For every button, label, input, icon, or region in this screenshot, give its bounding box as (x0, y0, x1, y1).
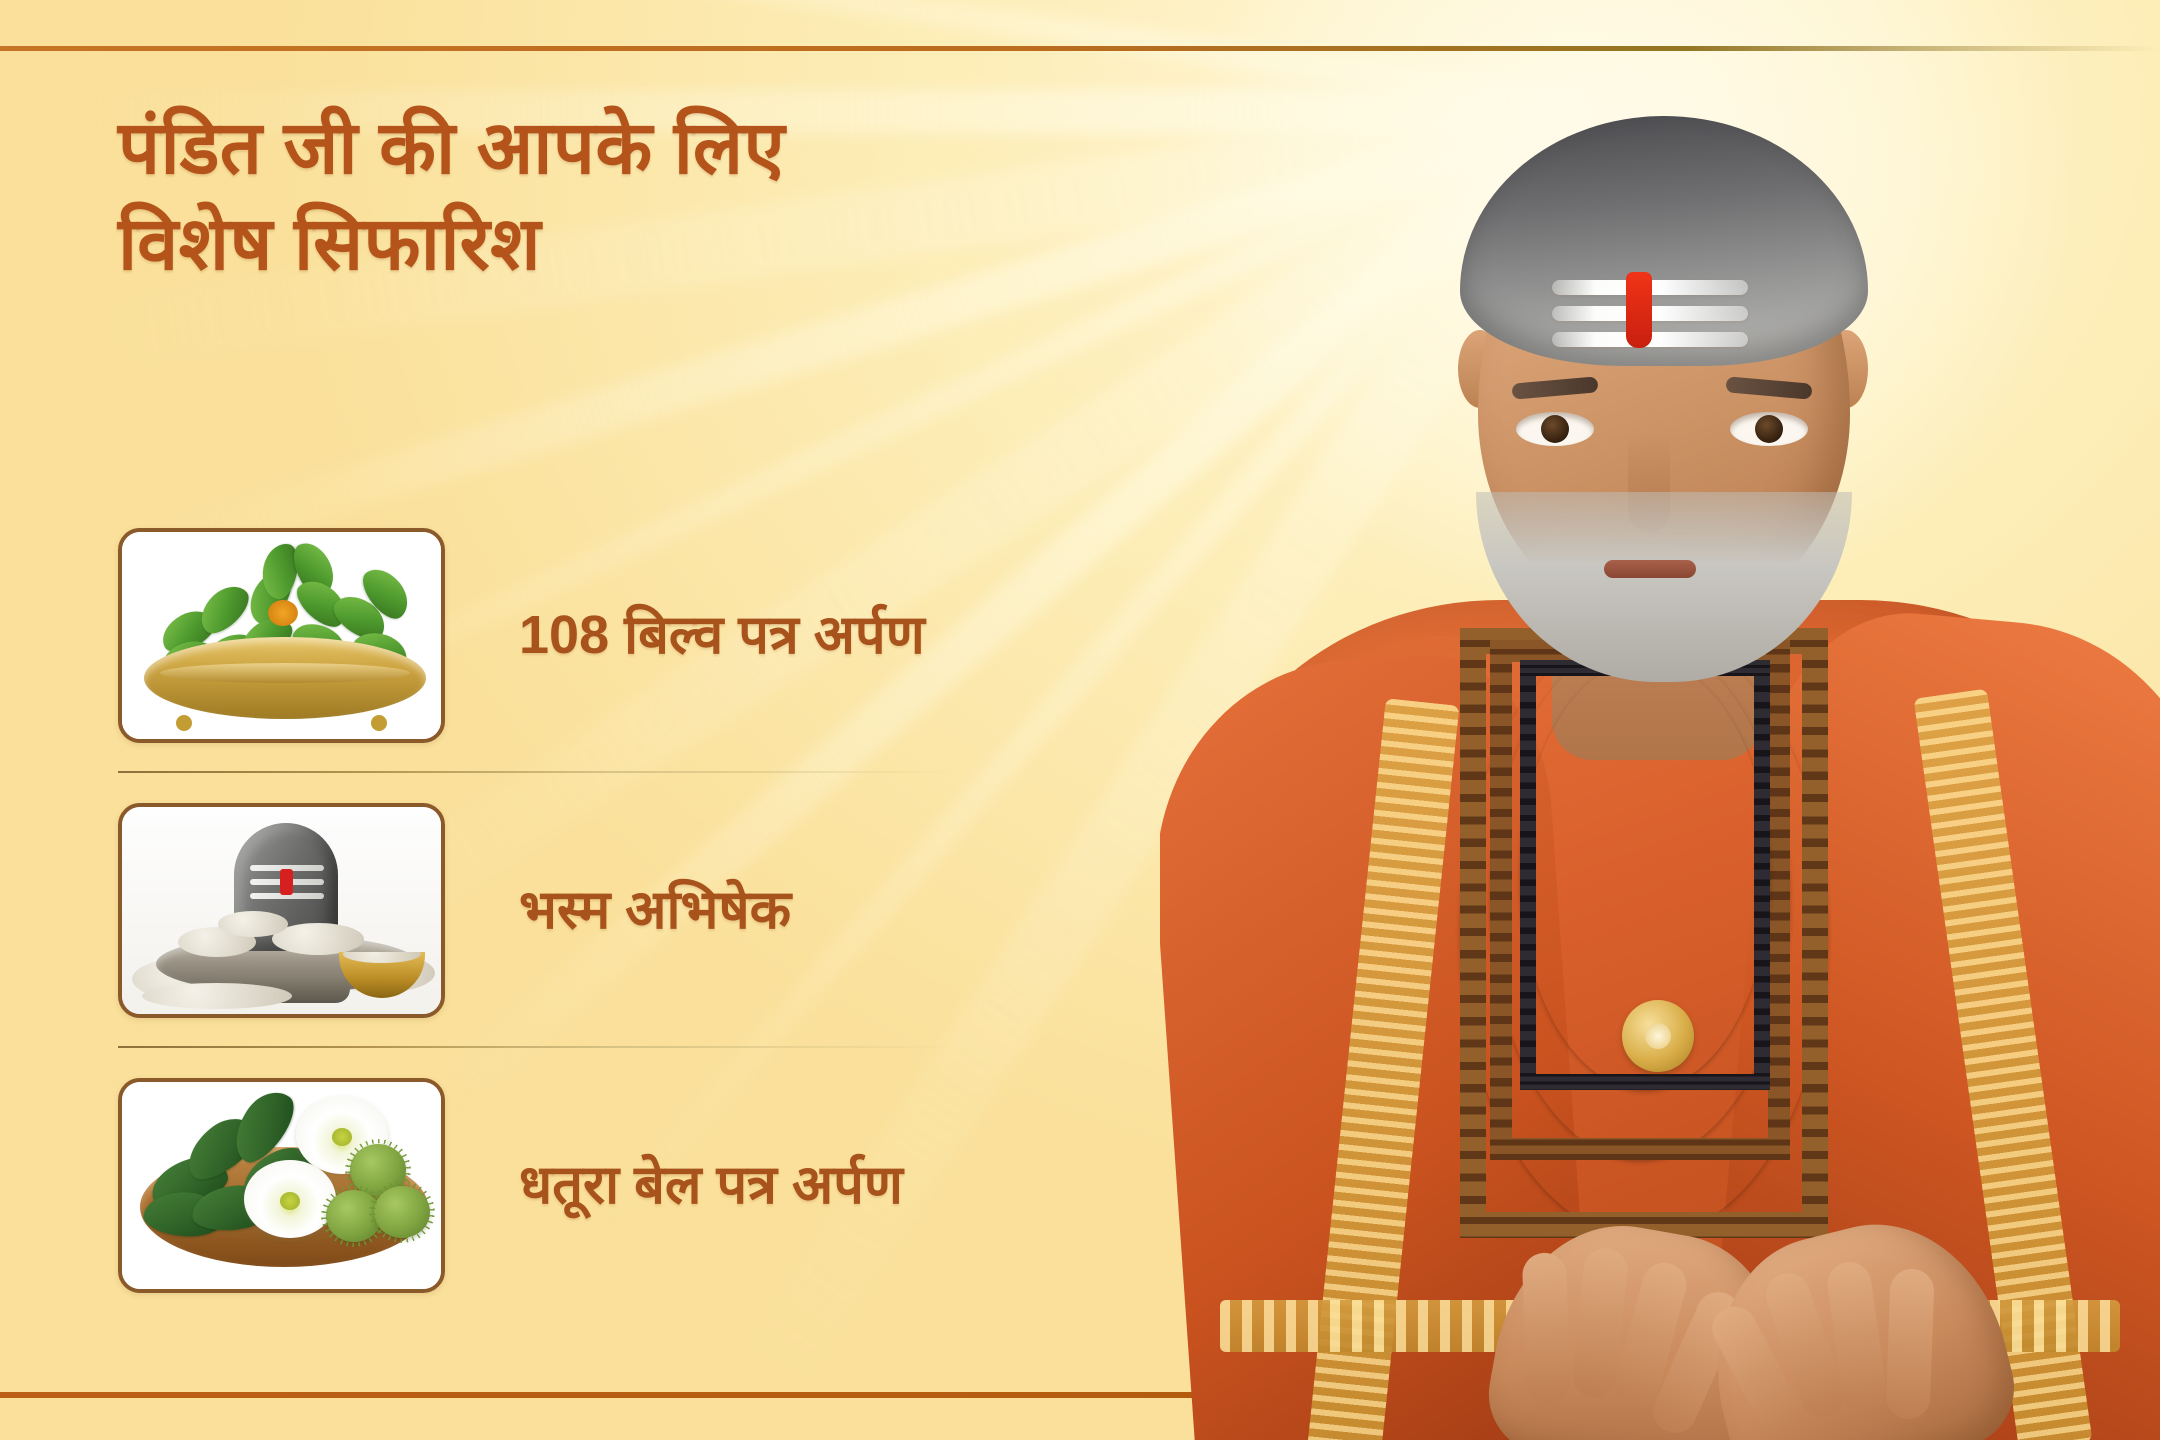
shivling-bhasma-thumbnail (118, 803, 445, 1018)
headline-line-1: पंडित जी की आपके लिए (118, 100, 1178, 196)
datura-fruit-icon (374, 1186, 430, 1238)
datura-bel-thumbnail (118, 1078, 445, 1293)
brass-plate-icon (144, 637, 426, 719)
list-item-label: 108 बिल्व पत्र अर्पण (519, 603, 925, 668)
red-tilak-bindu (1626, 272, 1652, 348)
list-item-label: धतूरा बेल पत्र अर्पण (519, 1153, 903, 1218)
lips (1604, 560, 1696, 578)
gold-pendant (1622, 1000, 1694, 1072)
headline-line-2: विशेष सिफारिश (118, 196, 1178, 292)
grey-hair (1460, 116, 1868, 366)
list-item[interactable]: 108 बिल्व पत्र अर्पण (118, 498, 1118, 773)
recommendation-list: 108 बिल्व पत्र अर्पण (118, 498, 1118, 1323)
page-title: पंडित जी की आपके लिए विशेष सिफारिश (118, 100, 1178, 292)
bilva-leaves-thumbnail (118, 528, 445, 743)
content-panel: पंडित जी की आपके लिए विशेष सिफारिश (0, 0, 1230, 1440)
eye (1516, 412, 1594, 446)
pandit-ji-portrait (1160, 0, 2160, 1440)
list-item[interactable]: भस्म अभिषेक (118, 773, 1118, 1048)
eye (1730, 412, 1808, 446)
list-item[interactable]: धतूरा बेल पत्र अर्पण (118, 1048, 1118, 1323)
list-item-label: भस्म अभिषेक (519, 878, 791, 943)
bhasma-bowl-icon (339, 952, 425, 998)
